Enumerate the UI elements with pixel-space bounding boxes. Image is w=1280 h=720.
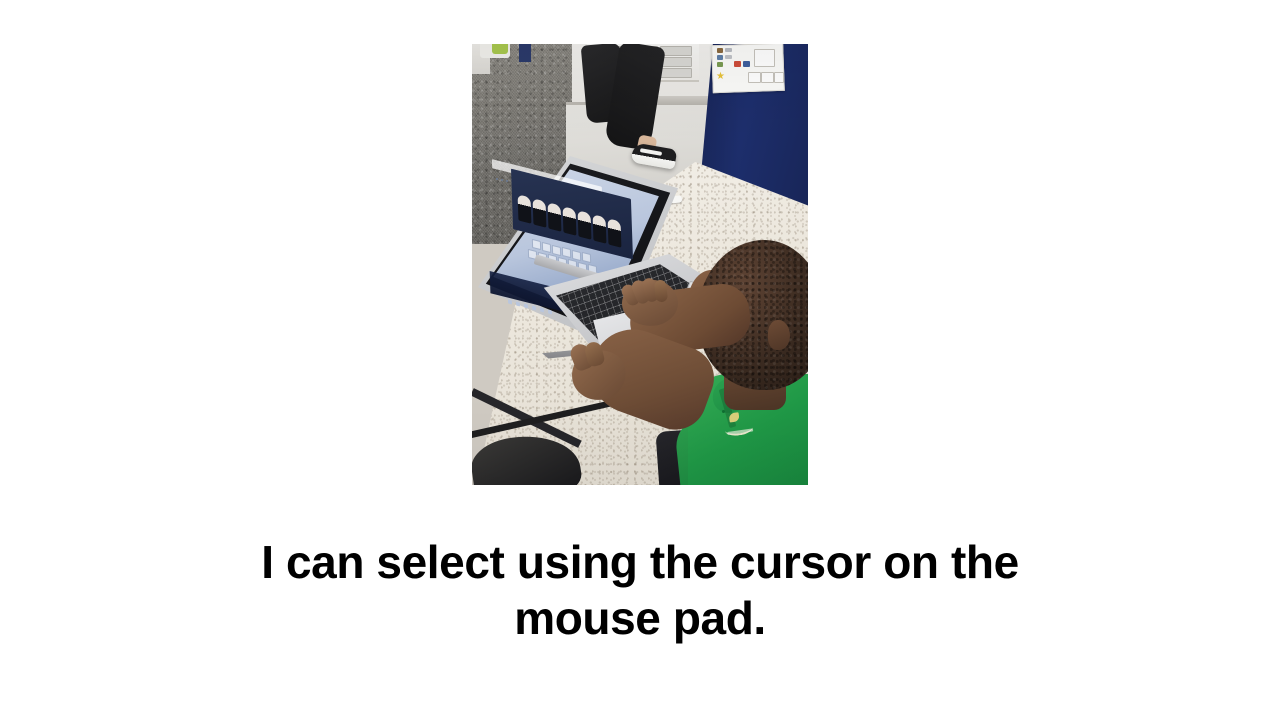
avatar xyxy=(533,198,547,228)
toolbar-icon xyxy=(501,179,503,181)
drawer xyxy=(660,57,692,67)
poster-symbol xyxy=(717,62,723,67)
classroom-photo: ★ xyxy=(472,44,808,485)
poster-symbol xyxy=(717,48,723,53)
toolbar-icon xyxy=(496,178,498,180)
taskbar-icon xyxy=(524,303,528,308)
toolbar-icon xyxy=(506,180,508,182)
taskbar-icon xyxy=(508,299,512,304)
slide: ★ xyxy=(0,0,1280,720)
star-icon: ★ xyxy=(716,72,725,81)
poster-symbol xyxy=(743,61,750,67)
poster-box xyxy=(774,72,784,83)
taskbar-icon xyxy=(516,301,520,306)
finger xyxy=(654,279,668,302)
school-logo-icon xyxy=(722,408,759,438)
avatar xyxy=(548,202,562,232)
poster-box xyxy=(761,72,774,83)
poster-symbol xyxy=(734,61,741,67)
taskbar-icon xyxy=(548,309,552,314)
poster-symbol xyxy=(725,55,732,59)
poster-symbol xyxy=(725,48,732,52)
poster-large-box xyxy=(754,49,775,67)
avatar xyxy=(608,218,622,248)
avatar xyxy=(578,210,592,240)
green-tray xyxy=(492,44,508,54)
slide-caption: I can select using the cursor on the mou… xyxy=(100,534,1180,646)
child-ear xyxy=(768,320,790,350)
taskbar-icon xyxy=(540,307,544,312)
poster-box xyxy=(748,72,761,83)
logo-leaf xyxy=(729,412,740,422)
poster-symbol xyxy=(717,55,723,60)
drawer xyxy=(660,68,692,78)
avatar xyxy=(518,194,532,224)
blue-object xyxy=(519,44,531,62)
taskbar-icon xyxy=(532,305,536,310)
avatar xyxy=(593,214,607,244)
avatar xyxy=(563,206,577,236)
